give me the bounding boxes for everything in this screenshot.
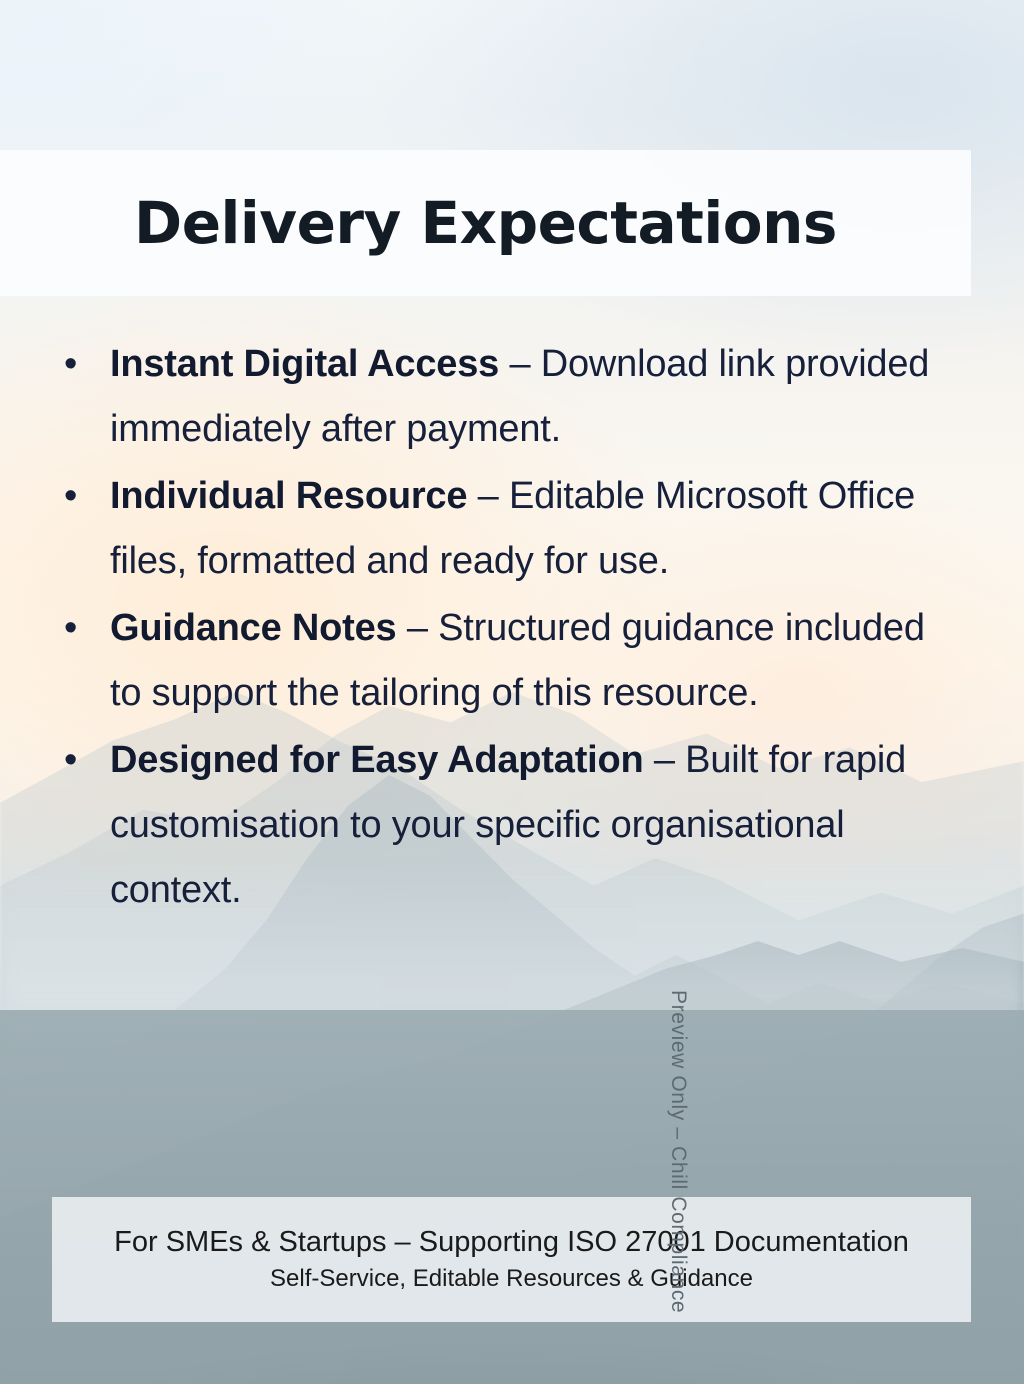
page-title: Delivery Expectations bbox=[134, 194, 837, 252]
list-item-lead: Instant Digital Access bbox=[110, 343, 499, 385]
list-item: • Instant Digital Access – Download link… bbox=[56, 332, 956, 462]
list-item-text: Individual Resource – Editable Microsoft… bbox=[110, 464, 956, 594]
list-item-lead: Designed for Easy Adaptation bbox=[110, 739, 644, 781]
title-band: Delivery Expectations bbox=[0, 150, 971, 296]
footer-primary-text: For SMEs & Startups – Supporting ISO 270… bbox=[114, 1225, 909, 1260]
footer-band: For SMEs & Startups – Supporting ISO 270… bbox=[52, 1197, 971, 1322]
bullet-point-icon: • bbox=[56, 464, 110, 529]
bullet-point-icon: • bbox=[56, 332, 110, 397]
list-item-lead: Guidance Notes bbox=[110, 607, 397, 649]
list-item: • Individual Resource – Editable Microso… bbox=[56, 464, 956, 594]
bullet-point-icon: • bbox=[56, 596, 110, 661]
list-item-lead: Individual Resource bbox=[110, 475, 467, 517]
list-item-text: Instant Digital Access – Download link p… bbox=[110, 332, 956, 462]
bullet-list: • Instant Digital Access – Download link… bbox=[56, 332, 956, 925]
list-item: • Guidance Notes – Structured guidance i… bbox=[56, 596, 956, 726]
bullet-point-icon: • bbox=[56, 728, 110, 793]
list-item-text: Designed for Easy Adaptation – Built for… bbox=[110, 728, 956, 923]
list-item: • Designed for Easy Adaptation – Built f… bbox=[56, 728, 956, 923]
slide-canvas: Delivery Expectations • Instant Digital … bbox=[0, 0, 1024, 1384]
list-item-text: Guidance Notes – Structured guidance inc… bbox=[110, 596, 956, 726]
preview-watermark: Preview Only – Chill Compliance bbox=[666, 990, 690, 1330]
